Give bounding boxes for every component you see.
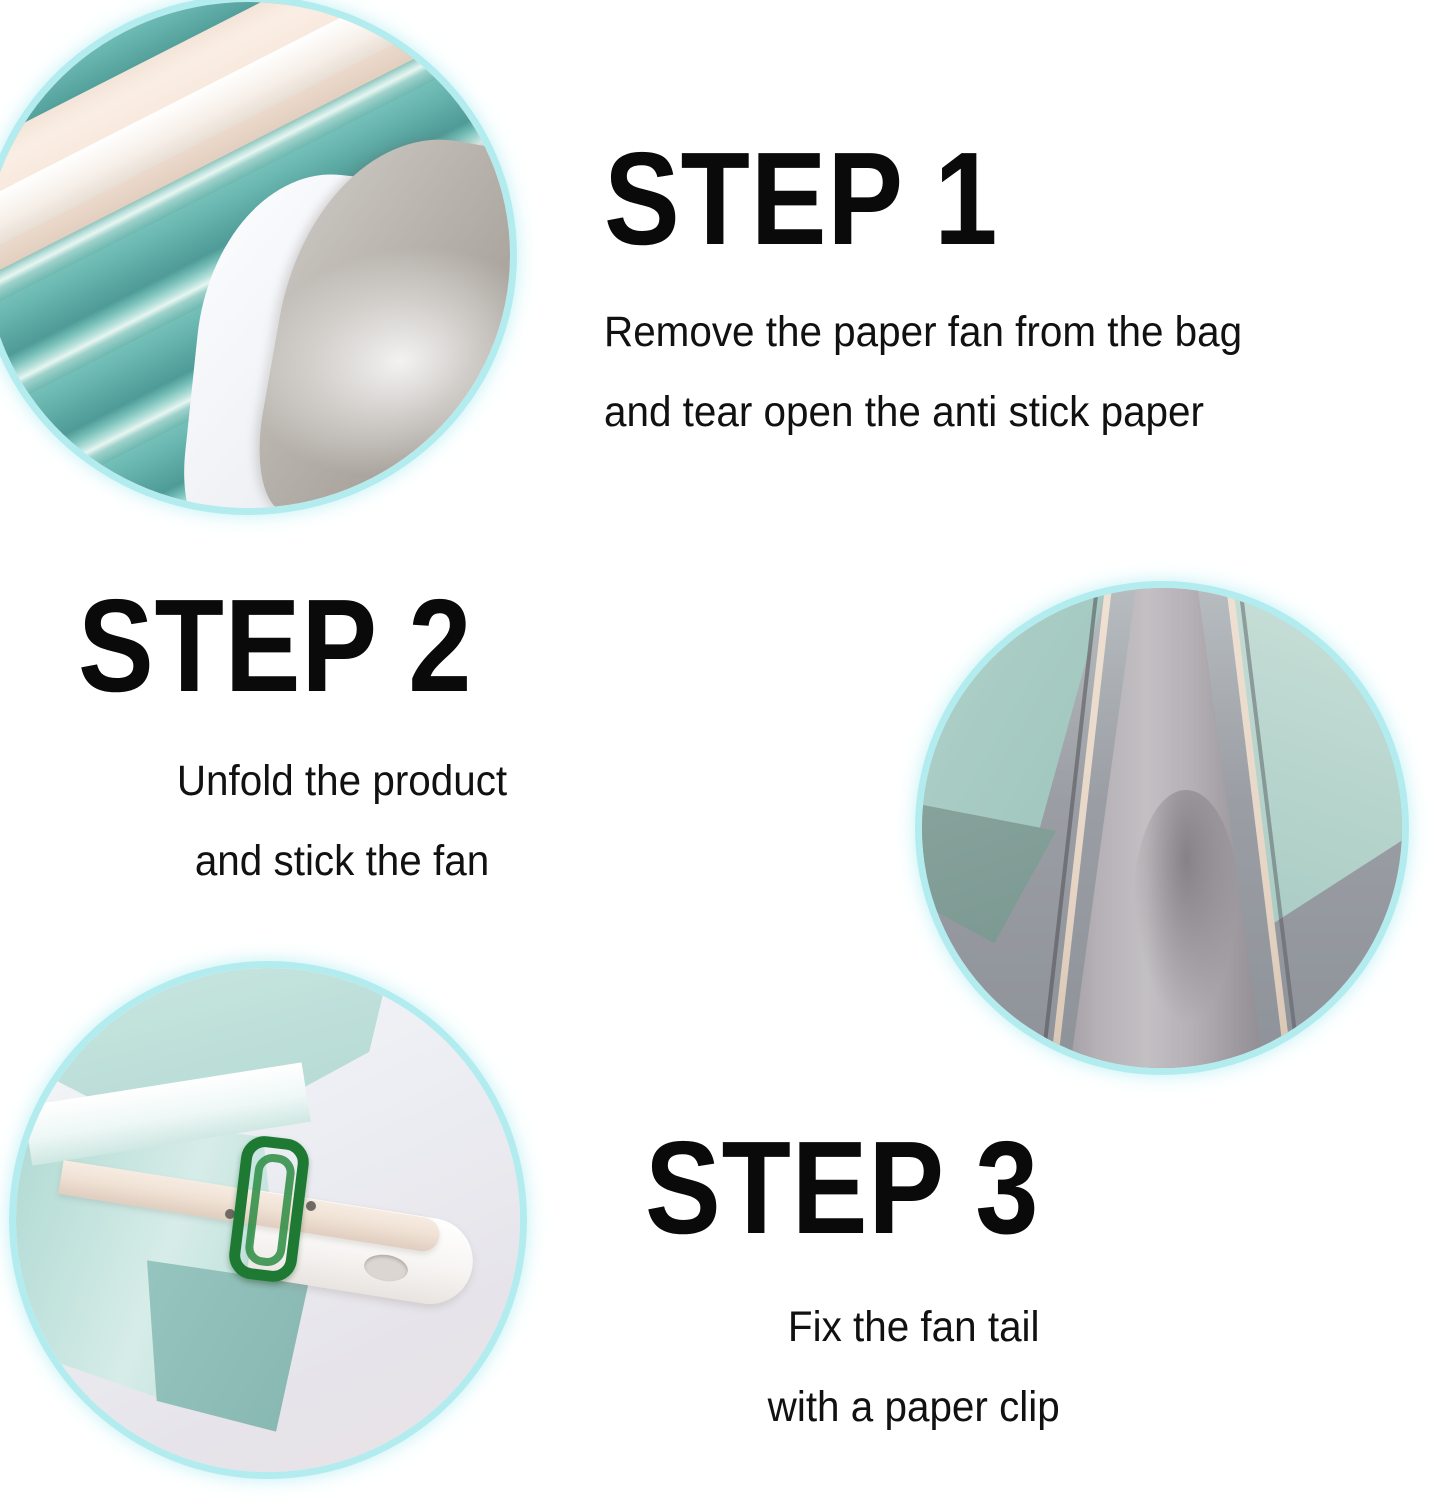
step-1-body-line-2: and tear open the anti stick paper [604, 373, 1242, 453]
step-2-body-line-1: Unfold the product [161, 742, 522, 822]
step-3-photo-circle [16, 968, 520, 1472]
instruction-poster: STEP 1 Remove the paper fan from the bag… [0, 0, 1448, 1500]
step-1-body-line-1: Remove the paper fan from the bag [604, 293, 1242, 373]
tail-rivet-right [306, 1201, 316, 1211]
step-1-body: Remove the paper fan from the bag and te… [604, 293, 1242, 452]
step-1-heading: STEP 1 [604, 133, 1188, 265]
step-2-heading: STEP 2 [78, 580, 472, 712]
step-3-body-line-1: Fix the fan tail [738, 1288, 1090, 1368]
step-2-photo [922, 588, 1402, 1068]
step-1-text-block: STEP 1 Remove the paper fan from the bag… [604, 133, 1283, 452]
step-2-text-block: STEP 2 Unfold the product and stick the … [78, 580, 536, 901]
step-1-photo [0, 2, 510, 508]
step-2-photo-circle [922, 588, 1402, 1068]
step-2-body: Unfold the product and stick the fan [92, 742, 523, 901]
step-3-text-block: STEP 3 Fix the fan tail with a paper cli… [645, 1122, 1103, 1447]
step-3-heading: STEP 3 [645, 1122, 1039, 1254]
step-3-body-line-2: with a paper clip [738, 1368, 1090, 1448]
step-3-photo [16, 968, 520, 1472]
step-2-body-line-2: and stick the fan [161, 822, 522, 902]
step-3-body: Fix the fan tail with a paper clip [659, 1288, 1090, 1447]
step-1-photo-circle [0, 2, 510, 508]
center-panel-shadow [1133, 790, 1239, 1020]
